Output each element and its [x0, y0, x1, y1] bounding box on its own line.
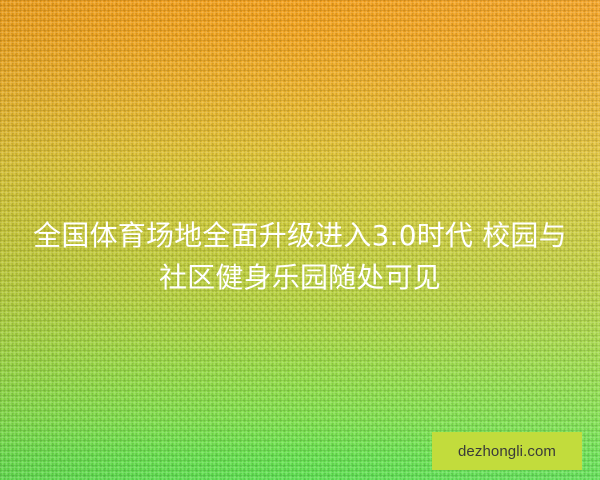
watermark-badge: dezhongli.com	[432, 432, 582, 470]
banner-headline: 全国体育场地全面升级进入3.0时代 校园与社区健身乐园随处可见	[0, 215, 600, 299]
article-banner: 全国体育场地全面升级进入3.0时代 校园与社区健身乐园随处可见 dezhongl…	[0, 0, 600, 480]
watermark-label: dezhongli.com	[458, 444, 556, 459]
